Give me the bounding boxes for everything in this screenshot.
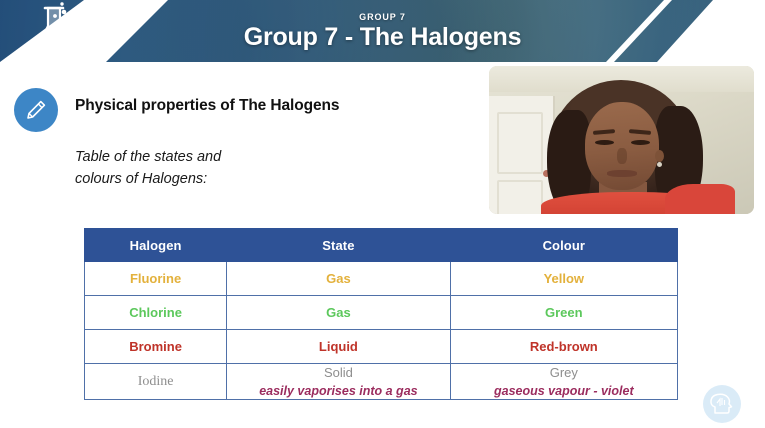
column-header-state: State [227,229,450,262]
halogen-properties-table: Halogen State Colour Fluorine Gas Yellow… [84,228,678,400]
cell-halogen-chlorine: Chlorine [85,296,227,330]
cell-state-chlorine: Gas [227,296,450,330]
cell-state-iodine: Solid easily vaporises into a gas [227,364,450,400]
banner-title: Group 7 - The Halogens [244,25,522,50]
video-background-door [489,96,555,214]
cell-colour-iodine: Grey gaseous vapour - violet [450,364,677,400]
pencil-badge [14,88,58,132]
table-row: Iodine Solid easily vaporises into a gas… [85,364,678,400]
banner-text-block: GROUP 7 Group 7 - The Halogens [0,0,765,62]
iodine-colour: Grey [550,364,578,382]
door-panel-upper [497,112,543,174]
column-header-halogen: Halogen [85,229,227,262]
cell-colour-bromine: Red-brown [450,330,677,364]
banner-kicker: GROUP 7 [359,13,406,22]
door-panel-lower [497,180,543,214]
slide-header-banner: GROUP 7 Group 7 - The Halogens [0,0,765,62]
webcam-video-tile[interactable] [489,66,754,214]
iodine-colour-note: gaseous vapour - violet [494,383,634,400]
person-ear [655,150,664,162]
lead-line-1: Table of the states and [75,146,335,168]
table-row: Fluorine Gas Yellow [85,262,678,296]
lead-line-2: colours of Halogens: [75,168,335,190]
slide-canvas: GROUP 7 Group 7 - The Halogens Physical … [0,0,765,428]
cell-colour-chlorine: Green [450,296,677,330]
cell-halogen-fluorine: Fluorine [85,262,227,296]
cell-colour-fluorine: Yellow [450,262,677,296]
iodine-label: Iodine [138,374,174,389]
column-header-colour: Colour [450,229,677,262]
person-mouth [607,170,637,177]
cell-state-fluorine: Gas [227,262,450,296]
cell-halogen-bromine: Bromine [85,330,227,364]
cell-halogen-iodine: Iodine [85,364,227,400]
iodine-state: Solid [324,364,353,382]
lead-paragraph: Table of the states and colours of Halog… [75,146,335,191]
person-earring [657,162,662,167]
section-heading: Physical properties of The Halogens [75,97,339,115]
person-nose [617,148,627,164]
person-shoulder [665,184,735,214]
cell-state-bromine: Liquid [227,330,450,364]
pencil-icon [24,98,48,122]
table-header-row: Halogen State Colour [85,229,678,262]
iodine-state-note: easily vaporises into a gas [259,383,417,400]
person-eye-right [631,140,650,145]
table-row: Chlorine Gas Green [85,296,678,330]
person-eye-left [595,140,614,145]
table-row: Bromine Liquid Red-brown [85,330,678,364]
brain-head-logo [702,384,742,424]
